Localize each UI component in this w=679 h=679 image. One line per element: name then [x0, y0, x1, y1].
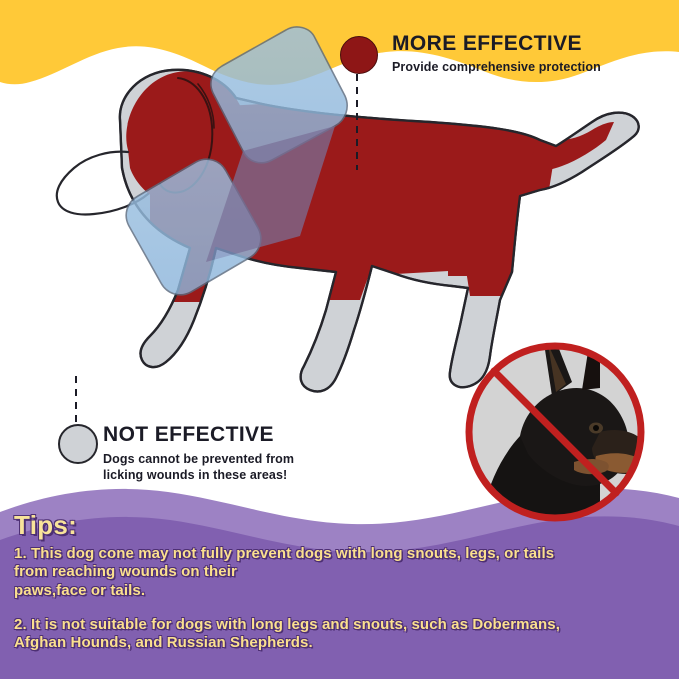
not-effective-subtitle-line-2: licking wounds in these areas! — [103, 467, 355, 483]
callout-more-effective: MORE EFFECTIVE Provide comprehensive pro… — [336, 33, 666, 75]
dog-tail-red — [530, 122, 614, 171]
callout-not-effective: NOT EFFECTIVE Dogs cannot be prevented f… — [55, 424, 355, 483]
dog-ear-crease — [198, 84, 214, 128]
neck-cone — [126, 27, 347, 295]
tip-2-line-1: 2. It is not suitable for dogs with long… — [14, 616, 667, 634]
infographic-canvas: MORE EFFECTIVE Provide comprehensive pro… — [0, 0, 679, 679]
dog-body-silhouette — [57, 70, 639, 392]
recovery-suit-red-coverage — [118, 71, 614, 302]
cone-middle-band — [206, 126, 335, 262]
tip-item-2: 2. It is not suitable for dogs with long… — [14, 616, 667, 653]
dog-gray-base — [120, 70, 639, 392]
not-effective-subtitle: Dogs cannot be prevented from licking wo… — [103, 451, 355, 483]
tip-1-line-3: paws,face or tails. — [14, 582, 667, 600]
tips-panel: Tips: 1. This dog cone may not fully pre… — [0, 492, 679, 679]
more-effective-title: MORE EFFECTIVE — [392, 33, 666, 55]
dog-snout — [57, 152, 148, 215]
cone-upper-panel — [211, 27, 347, 163]
tips-title: Tips: — [14, 512, 667, 538]
dog-torso-red — [150, 104, 556, 300]
tip-1-line-1: 1. This dog cone may not fully prevent d… — [14, 545, 667, 563]
prohibition-slash — [494, 371, 616, 493]
tip-1-line-2: from reaching wounds on their — [14, 563, 667, 581]
cone-lower-panel — [126, 159, 261, 295]
more-effective-subtitle: Provide comprehensive protection — [392, 59, 666, 75]
dog-ear — [160, 78, 212, 193]
tip-2-line-2: Afghan Hounds, and Russian Shepherds. — [14, 634, 667, 652]
dog-head-red — [126, 71, 248, 209]
not-effective-subtitle-line-1: Dogs cannot be prevented from — [103, 451, 355, 467]
not-effective-title: NOT EFFECTIVE — [103, 424, 355, 446]
dog-body-outline — [120, 70, 639, 392]
tip-item-1: 1. This dog cone may not fully prevent d… — [14, 545, 667, 600]
